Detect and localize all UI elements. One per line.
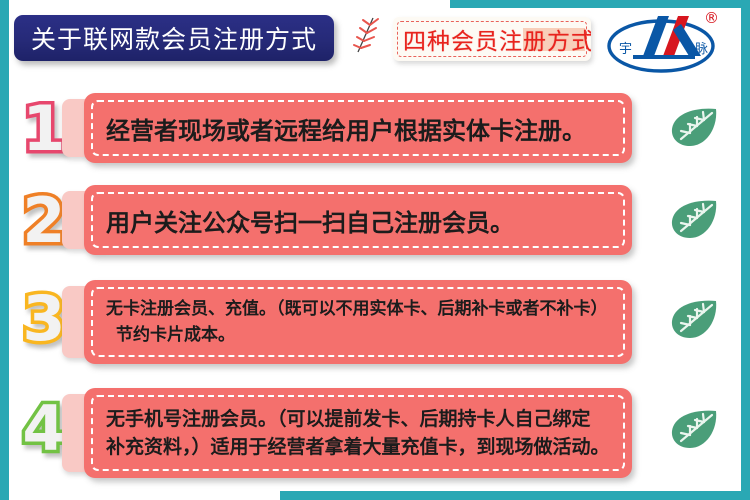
header-right-title-text: 四种会员注册方式 [403,17,591,61]
item-text-block: 无手机号注册会员。（可以提前发卡、后期持卡人自己绑定 补充资料，）适用于经营者拿… [106,388,616,478]
company-logo: 宇 脉 ® [603,6,723,74]
header-right-title-card: 四种会员注册方式 [393,17,591,61]
list-item: 1 经营者现场或者远程给用户根据实体卡注册。 [0,84,750,176]
item-bar-2: 用户关注公众号扫一扫自己注册会员。 [62,185,632,255]
item-banner: 无手机号注册会员。（可以提前发卡、后期持卡人自己绑定 补充资料，）适用于经营者拿… [84,388,632,478]
list-item: 4 无手机号注册会员。（可以提前发卡、后期持卡人自己绑定 补充资料，）适用于经营… [0,376,750,490]
item-text-line: 补充资料，）适用于经营者拿着大量充值卡，到现场做活动。 [106,433,616,462]
frame-border-bottom [280,491,750,500]
list-item: 2 用户关注公众号扫一扫自己注册会员。 [0,176,750,268]
header-left-title-text: 关于联网款会员注册方式 [31,20,317,56]
poster-header: 关于联网款会员注册方式 四种会员注册方式 宇 脉 [0,0,750,82]
item-text-line: 用户关注公众号扫一扫自己注册会员。 [106,203,616,238]
leaf-icon [668,296,722,342]
logo-char-left: 宇 [619,42,632,57]
item-text-line: 经营者现场或者远程给用户根据实体卡注册。 [106,111,616,146]
header-left-title-banner: 关于联网款会员注册方式 [14,15,334,61]
item-text-line: 无卡注册会员、充值。（既可以不用实体卡、后期补卡或者不补卡） [106,296,616,322]
item-bar-3: 无卡注册会员、充值。（既可以不用实体卡、后期补卡或者不补卡） 节约卡片成本。 [62,280,632,364]
item-text-block: 用户关注公众号扫一扫自己注册会员。 [106,185,616,255]
leaf-icon [668,104,722,150]
leaf-icon [668,196,722,242]
item-banner: 用户关注公众号扫一扫自己注册会员。 [84,185,632,255]
item-text-line: 节约卡片成本。 [106,322,616,348]
poster-canvas: 关于联网款会员注册方式 四种会员注册方式 宇 脉 [0,0,750,500]
logo-char-right: 脉 [695,42,708,57]
leaf-icon [668,406,722,452]
item-text-block: 经营者现场或者远程给用户根据实体卡注册。 [106,93,616,163]
list-item: 3 无卡注册会员、充值。（既可以不用实体卡、后期补卡或者不补卡） 节约卡片成本。 [0,268,750,376]
item-text-line: 无手机号注册会员。（可以提前发卡、后期持卡人自己绑定 [106,405,616,434]
item-bar-4: 无手机号注册会员。（可以提前发卡、后期持卡人自己绑定 补充资料，）适用于经营者拿… [62,388,632,478]
item-text-block: 无卡注册会员、充值。（既可以不用实体卡、后期补卡或者不补卡） 节约卡片成本。 [106,280,616,364]
sprig-decoration-icon [345,12,387,58]
item-bar-1: 经营者现场或者远程给用户根据实体卡注册。 [62,93,632,163]
item-banner: 无卡注册会员、充值。（既可以不用实体卡、后期补卡或者不补卡） 节约卡片成本。 [84,280,632,364]
registered-mark-icon: ® [704,9,719,27]
item-banner: 经营者现场或者远程给用户根据实体卡注册。 [84,93,632,163]
